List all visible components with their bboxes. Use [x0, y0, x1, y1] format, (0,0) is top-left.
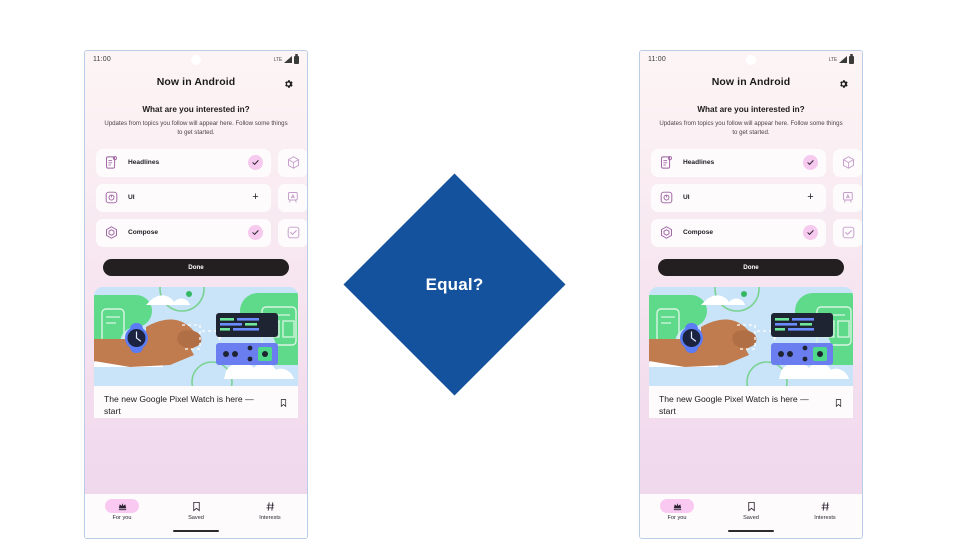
- camera-punch-hole: [746, 55, 756, 65]
- topic-row: Compose: [96, 219, 307, 247]
- comparison-stage: 11:00 LTE Now in Android What are you in…: [0, 0, 960, 540]
- signal-icon: [839, 56, 847, 63]
- feed-section: The new Google Pixel Watch is here — sta…: [85, 287, 307, 494]
- status-time: 11:00: [648, 56, 666, 63]
- pixel-watch-illustration: [94, 287, 298, 386]
- home-indicator: [173, 530, 219, 532]
- interests-subtitle: Updates from topics you follow will appe…: [98, 119, 294, 138]
- topic-card-compose[interactable]: Compose: [651, 219, 826, 247]
- for-you-icon: [105, 499, 139, 513]
- nav-label: For you: [113, 515, 132, 521]
- topic-toggle[interactable]: +: [803, 190, 818, 205]
- cube-icon: [286, 155, 301, 170]
- bookmark-icon: [179, 499, 213, 513]
- nav-label: Saved: [743, 515, 759, 521]
- topic-card-headlines[interactable]: Headlines: [96, 149, 271, 177]
- check-icon: [803, 225, 818, 240]
- done-button-wrap: Done: [640, 247, 862, 276]
- camera-punch-hole: [191, 55, 201, 65]
- phone-mockup-right: 11:00 LTE Now in Android What are you in…: [639, 50, 863, 539]
- cube-icon: [841, 155, 856, 170]
- topic-toggle[interactable]: +: [248, 190, 263, 205]
- status-icons: LTE: [829, 56, 854, 64]
- topic-label: Compose: [683, 229, 713, 236]
- hash-icon: [808, 499, 842, 513]
- battery-icon: [849, 56, 854, 64]
- nav-item-interests[interactable]: Interests: [233, 499, 307, 521]
- interests-subtitle: Updates from topics you follow will appe…: [653, 119, 849, 138]
- nav-item-for-you[interactable]: For you: [85, 499, 159, 521]
- feed-card-title: The new Google Pixel Watch is here — sta…: [659, 394, 826, 418]
- gear-icon[interactable]: [283, 77, 294, 88]
- for-you-icon: [660, 499, 694, 513]
- nav-label: For you: [668, 515, 687, 521]
- done-button-label: Done: [188, 264, 203, 271]
- pixel-watch-illustration: [649, 287, 853, 386]
- topic-row: Headlines: [651, 149, 862, 177]
- done-button-wrap: Done: [85, 247, 307, 276]
- done-button[interactable]: Done: [658, 259, 844, 276]
- battery-icon: [294, 56, 299, 64]
- feed-card[interactable]: The new Google Pixel Watch is here — sta…: [649, 287, 853, 418]
- topic-card-partial-3[interactable]: [833, 219, 862, 247]
- home-indicator: [728, 530, 774, 532]
- checkbox-icon: [841, 225, 856, 240]
- nav-label: Interests: [814, 515, 835, 521]
- status-bar: 11:00 LTE: [85, 51, 307, 68]
- check-icon: [248, 225, 263, 240]
- feed-card-body: The new Google Pixel Watch is here — sta…: [649, 386, 853, 418]
- phone-screen: 11:00 LTE Now in Android What are you in…: [85, 51, 307, 494]
- done-button-label: Done: [743, 264, 758, 271]
- easel-art-icon: [286, 190, 301, 205]
- topic-list: Headlines: [640, 149, 862, 247]
- interests-title: What are you interested in?: [653, 105, 849, 114]
- nav-item-for-you[interactable]: For you: [640, 499, 714, 521]
- done-button[interactable]: Done: [103, 259, 289, 276]
- plus-icon: +: [248, 190, 263, 205]
- topic-card-headlines[interactable]: Headlines: [651, 149, 826, 177]
- topic-card-partial-1[interactable]: [833, 149, 862, 177]
- topic-list: Headlines: [85, 149, 307, 247]
- status-bar: 11:00 LTE: [640, 51, 862, 68]
- feed-card-body: The new Google Pixel Watch is here — sta…: [94, 386, 298, 418]
- topic-label: UI: [128, 194, 135, 201]
- page-title: Now in Android: [712, 76, 791, 88]
- ui-square-icon: [659, 190, 674, 205]
- nav-item-saved[interactable]: Saved: [159, 499, 233, 521]
- topic-toggle[interactable]: [803, 225, 818, 240]
- hexagon-icon: [104, 225, 119, 240]
- app-bar: Now in Android: [85, 68, 307, 96]
- bookmark-icon: [734, 499, 768, 513]
- feed-section: The new Google Pixel Watch is here — sta…: [640, 287, 862, 494]
- bookmark-icon[interactable]: [834, 396, 843, 408]
- topic-card-partial-1[interactable]: [278, 149, 307, 177]
- topic-toggle[interactable]: [803, 155, 818, 170]
- hash-icon: [253, 499, 287, 513]
- status-time: 11:00: [93, 56, 111, 63]
- topic-card-compose[interactable]: Compose: [96, 219, 271, 247]
- topic-label: Headlines: [683, 159, 714, 166]
- news-document-icon: [659, 155, 674, 170]
- signal-icon: [284, 56, 292, 63]
- easel-art-icon: [841, 190, 856, 205]
- check-icon: [803, 155, 818, 170]
- topic-label: Headlines: [128, 159, 159, 166]
- topic-toggle[interactable]: [248, 225, 263, 240]
- topic-card-partial-2[interactable]: [833, 184, 862, 212]
- app-bar: Now in Android: [640, 68, 862, 96]
- bottom-navigation: For you Saved Interests: [640, 494, 862, 538]
- topic-label: UI: [683, 194, 690, 201]
- network-label: LTE: [829, 57, 837, 63]
- interests-title: What are you interested in?: [98, 105, 294, 114]
- topic-row: Compose: [651, 219, 862, 247]
- topic-card-partial-3[interactable]: [278, 219, 307, 247]
- interests-header: What are you interested in? Updates from…: [85, 96, 307, 138]
- page-title: Now in Android: [157, 76, 236, 88]
- phone-mockup-left: 11:00 LTE Now in Android What are you in…: [84, 50, 308, 539]
- gear-icon[interactable]: [838, 77, 849, 88]
- ui-square-icon: [104, 190, 119, 205]
- check-icon: [248, 155, 263, 170]
- bookmark-icon[interactable]: [279, 396, 288, 408]
- equal-diamond-label: Equal?: [376, 206, 533, 363]
- feed-card-title: The new Google Pixel Watch is here — sta…: [104, 394, 271, 418]
- topic-label: Compose: [128, 229, 158, 236]
- nav-item-interests[interactable]: Interests: [788, 499, 862, 521]
- nav-label: Saved: [188, 515, 204, 521]
- hexagon-icon: [659, 225, 674, 240]
- checkbox-icon: [286, 225, 301, 240]
- topic-row: Headlines: [96, 149, 307, 177]
- topic-card-ui[interactable]: UI +: [651, 184, 826, 212]
- plus-icon: +: [803, 190, 818, 205]
- bottom-navigation: For you Saved Interests: [85, 494, 307, 538]
- nav-label: Interests: [259, 515, 280, 521]
- network-label: LTE: [274, 57, 282, 63]
- status-icons: LTE: [274, 56, 299, 64]
- interests-header: What are you interested in? Updates from…: [640, 96, 862, 138]
- phone-screen: 11:00 LTE Now in Android What are you in…: [640, 51, 862, 494]
- topic-row: UI +: [651, 184, 862, 212]
- topic-card-ui[interactable]: UI +: [96, 184, 271, 212]
- topic-row: UI +: [96, 184, 307, 212]
- nav-item-saved[interactable]: Saved: [714, 499, 788, 521]
- news-document-icon: [104, 155, 119, 170]
- feed-card[interactable]: The new Google Pixel Watch is here — sta…: [94, 287, 298, 418]
- topic-toggle[interactable]: [248, 155, 263, 170]
- topic-card-partial-2[interactable]: [278, 184, 307, 212]
